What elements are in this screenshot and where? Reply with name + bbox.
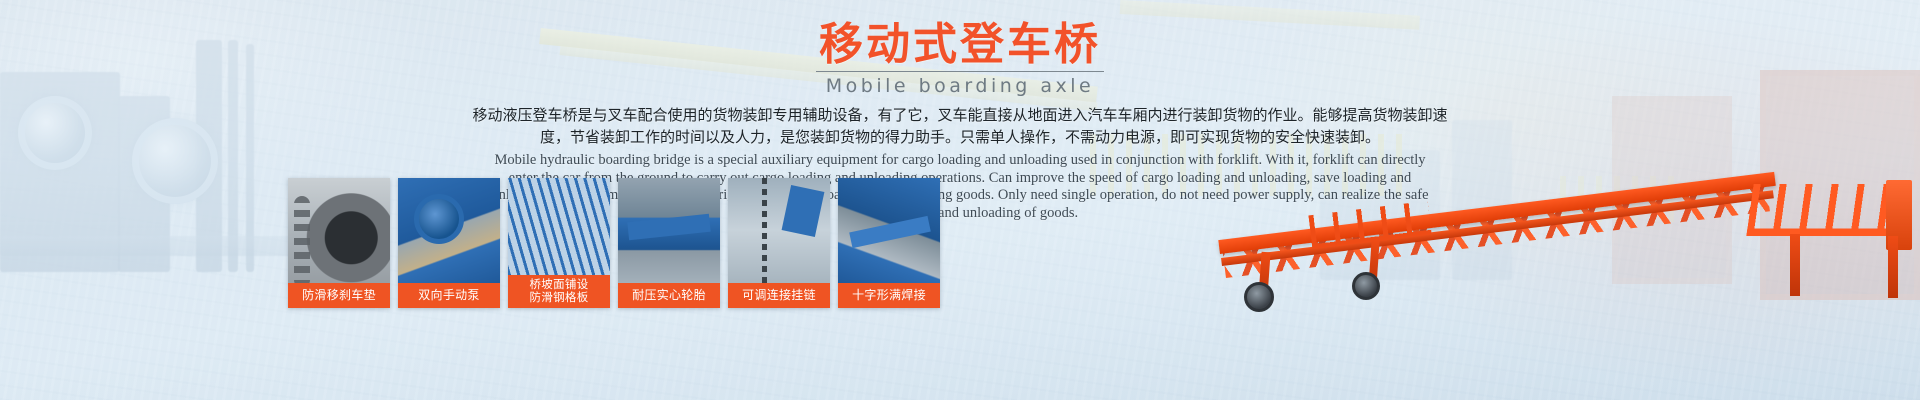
feature-thumb-solid-tire[interactable]: 耐压实心轮胎 bbox=[618, 178, 720, 308]
feature-caption-line2: 防滑钢格板 bbox=[510, 291, 608, 304]
description-chinese: 移动液压登车桥是与叉车配合使用的货物装卸专用辅助设备，有了它，叉车能直接从地面进… bbox=[460, 104, 1460, 148]
feature-caption: 十字形满焊接 bbox=[838, 283, 940, 308]
feature-caption: 耐压实心轮胎 bbox=[618, 283, 720, 308]
page-subtitle: Mobile boarding axle bbox=[816, 71, 1105, 97]
headline-block: 移动式登车桥 Mobile boarding axle bbox=[0, 22, 1920, 97]
feature-thumb-steel-grating[interactable]: 桥坡面铺设 防滑钢格板 bbox=[508, 178, 610, 308]
feature-caption: 桥坡面铺设 防滑钢格板 bbox=[508, 275, 610, 308]
feature-thumb-adjustable-chain[interactable]: 可调连接挂链 bbox=[728, 178, 830, 308]
feature-caption: 可调连接挂链 bbox=[728, 283, 830, 308]
feature-thumb-brake-pad[interactable]: 防滑移刹车垫 bbox=[288, 178, 390, 308]
feature-thumb-hand-pump[interactable]: 双向手动泵 bbox=[398, 178, 500, 308]
feature-caption: 防滑移刹车垫 bbox=[288, 283, 390, 308]
feature-thumbnail-strip: 防滑移刹车垫 双向手动泵 桥坡面铺设 防滑钢格板 耐压实心轮胎 可调连接挂链 十… bbox=[288, 178, 940, 308]
feature-thumb-cross-weld[interactable]: 十字形满焊接 bbox=[838, 178, 940, 308]
feature-caption: 双向手动泵 bbox=[398, 283, 500, 308]
product-banner: 移动式登车桥 Mobile boarding axle 移动液压登车桥是与叉车配… bbox=[0, 0, 1920, 400]
page-title: 移动式登车桥 bbox=[0, 22, 1920, 68]
